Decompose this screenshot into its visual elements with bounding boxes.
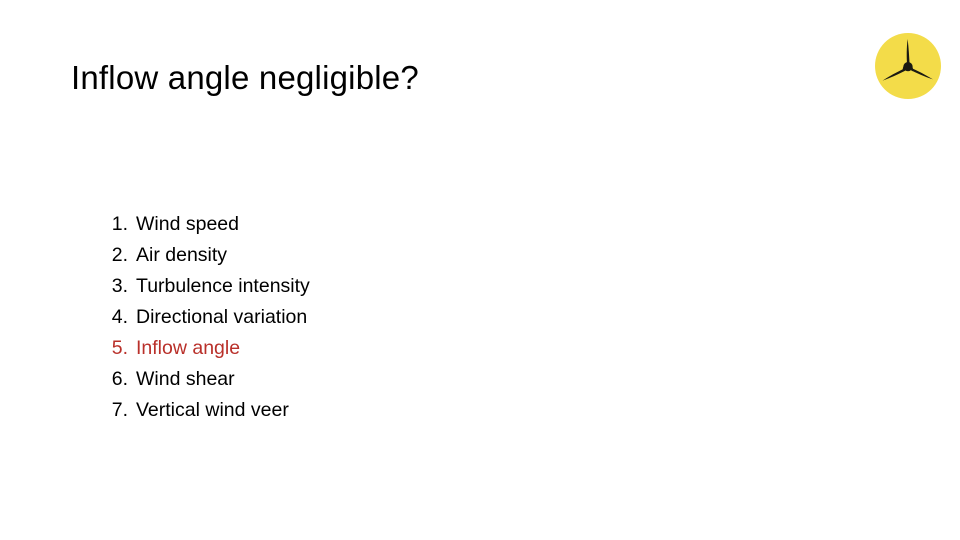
- list-item-number: 4.: [100, 302, 128, 333]
- list-item: 4. Directional variation: [100, 302, 620, 333]
- list-item-label: Inflow angle: [136, 333, 240, 364]
- list-item-label: Vertical wind veer: [136, 395, 289, 426]
- list-item-number: 6.: [100, 364, 128, 395]
- list-item-number: 7.: [100, 395, 128, 426]
- wind-turbine-rotor-icon: [874, 32, 942, 100]
- slide-canvas: Inflow angle negligible? 1. Wind speed 2…: [0, 0, 960, 540]
- list-item-label: Turbulence intensity: [136, 271, 310, 302]
- list-item-highlighted: 5. Inflow angle: [100, 333, 620, 364]
- list-item-label: Wind shear: [136, 364, 235, 395]
- list-item-number: 1.: [100, 209, 128, 240]
- list-item: 6. Wind shear: [100, 364, 620, 395]
- list-item-number: 2.: [100, 240, 128, 271]
- list-item: 1. Wind speed: [100, 209, 620, 240]
- list-item-label: Directional variation: [136, 302, 307, 333]
- numbered-list: 1. Wind speed 2. Air density 3. Turbulen…: [100, 209, 620, 426]
- logo: [874, 32, 942, 100]
- page-title: Inflow angle negligible?: [71, 57, 771, 99]
- list-item-label: Air density: [136, 240, 227, 271]
- list-item: 7. Vertical wind veer: [100, 395, 620, 426]
- list-item: 3. Turbulence intensity: [100, 271, 620, 302]
- list-item-label: Wind speed: [136, 209, 239, 240]
- list-item-number: 3.: [100, 271, 128, 302]
- list-item: 2. Air density: [100, 240, 620, 271]
- list-item-number: 5.: [100, 333, 128, 364]
